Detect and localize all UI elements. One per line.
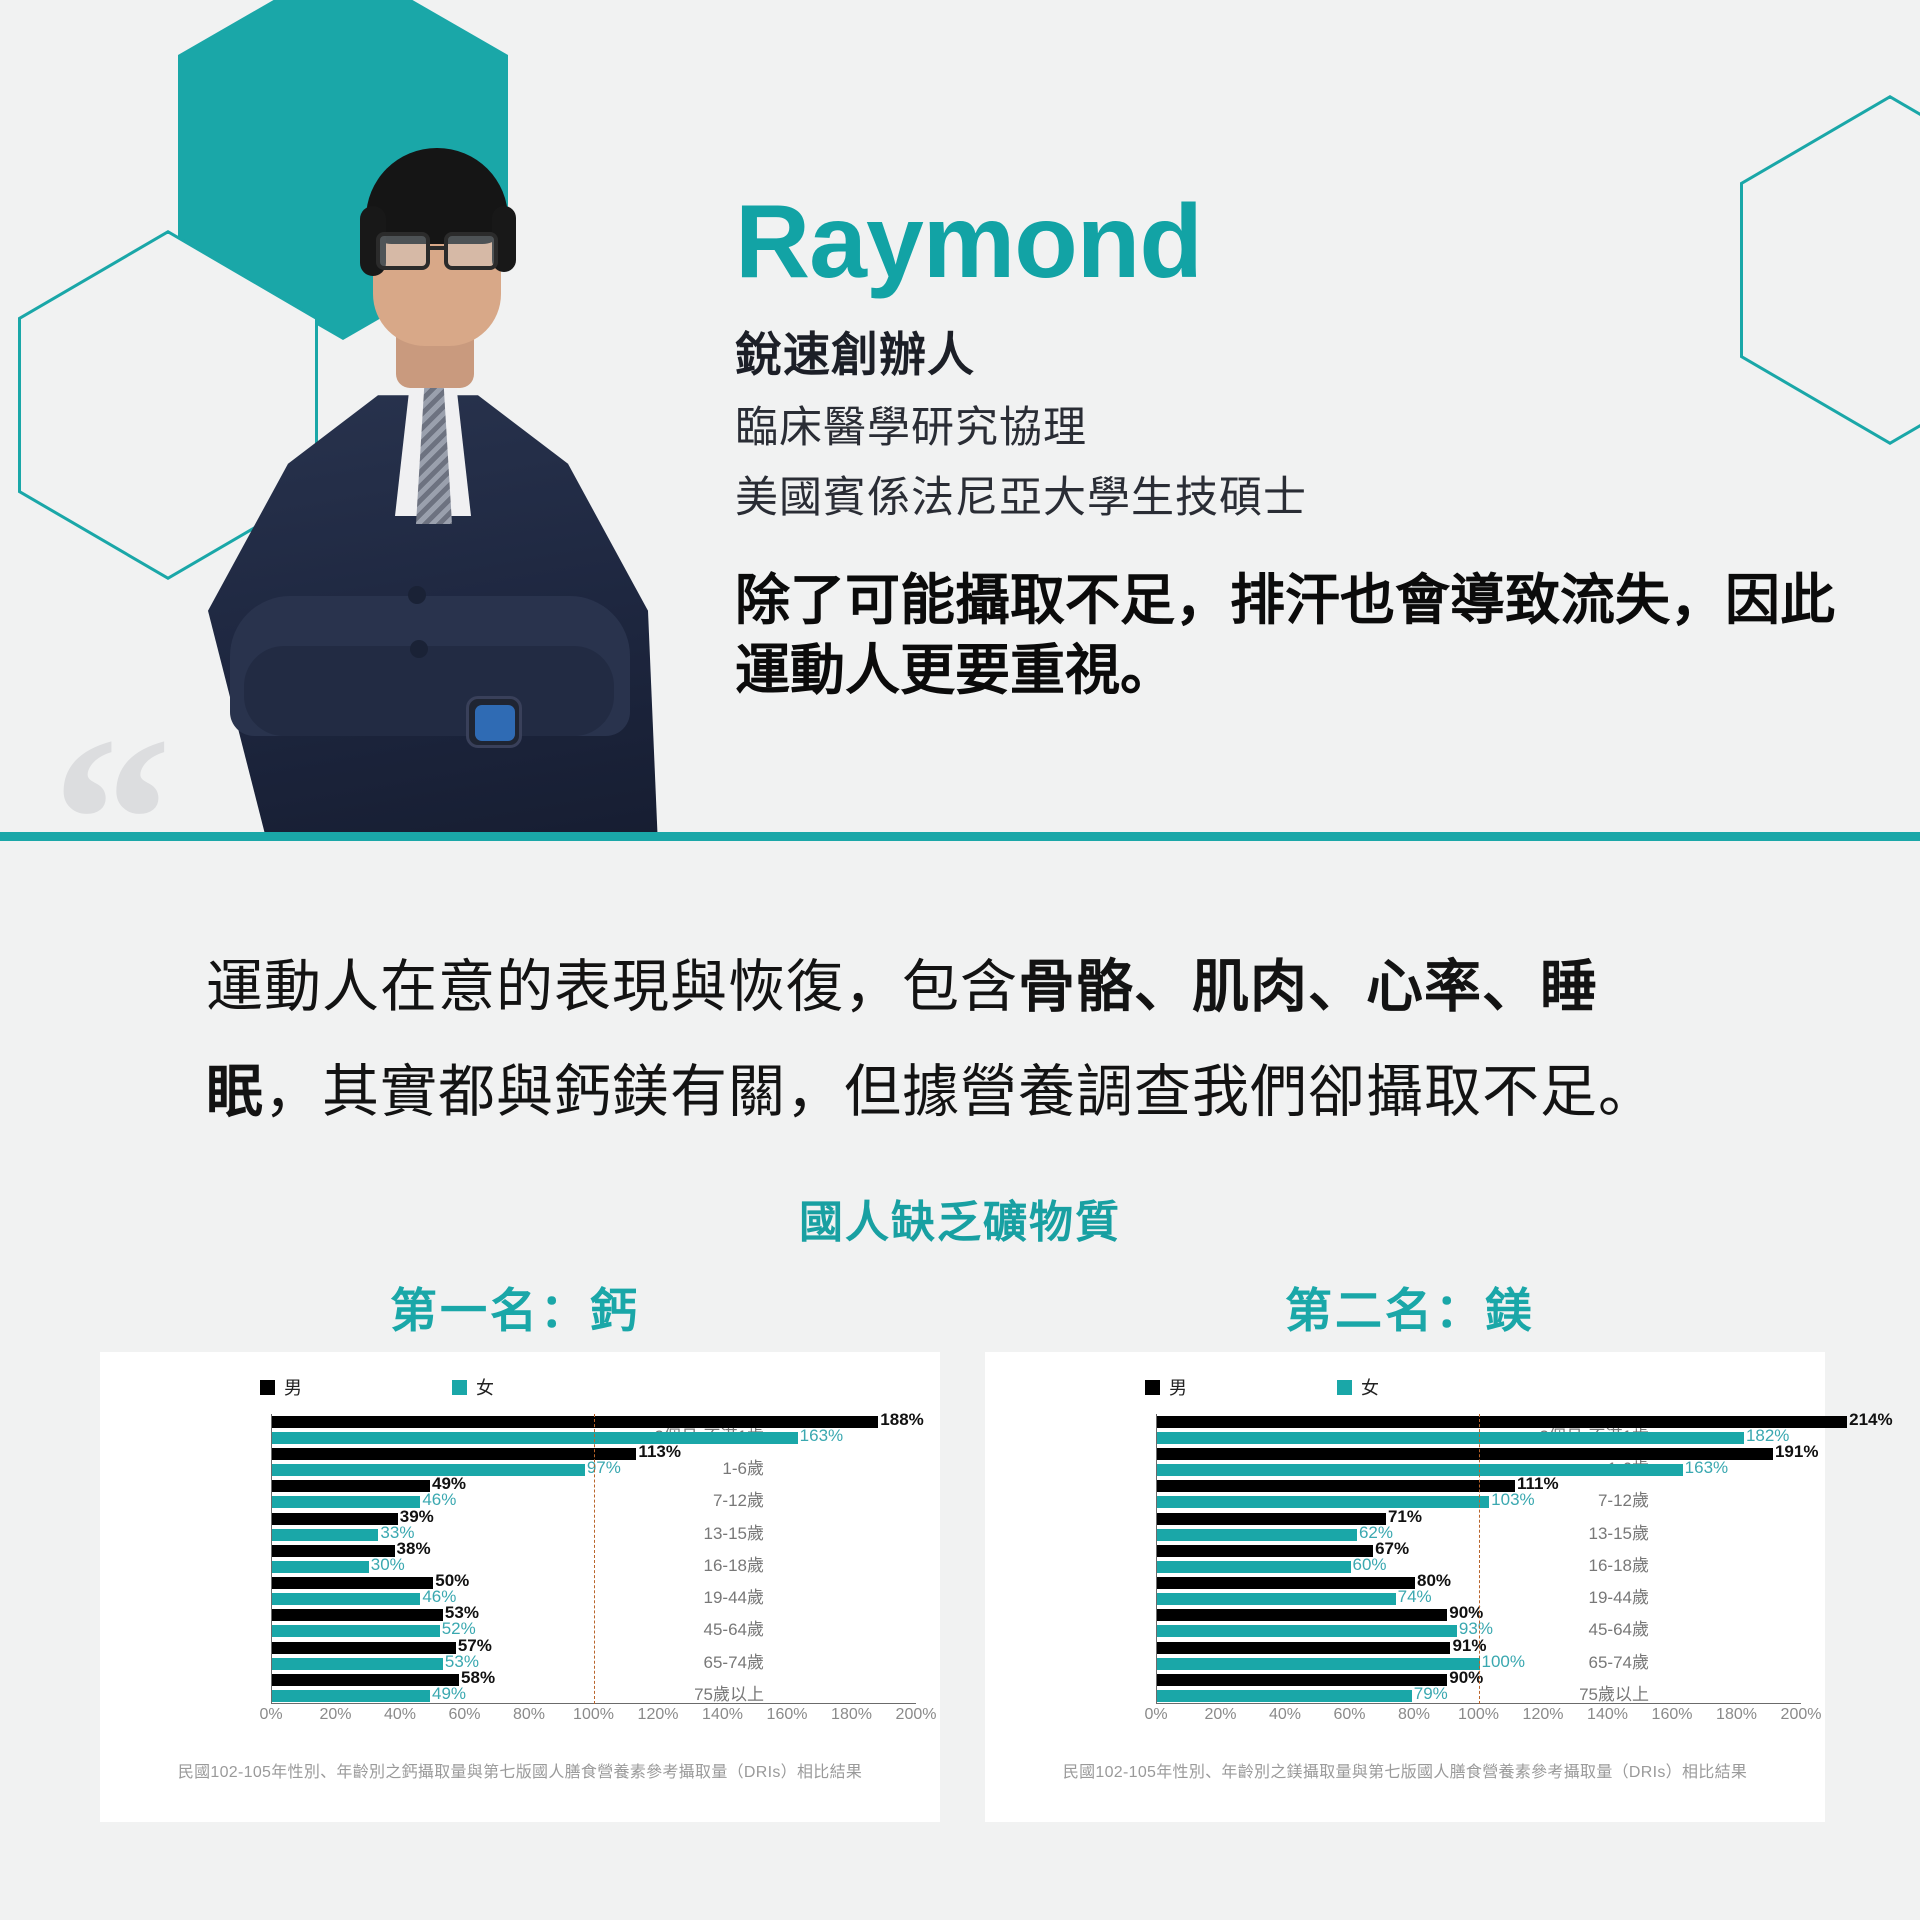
x-tick-label: 120% (1523, 1706, 1564, 1724)
bar-male (272, 1609, 443, 1621)
bar-female (1157, 1658, 1480, 1670)
bar-value-label: 33% (380, 1527, 414, 1539)
x-tick-label: 60% (448, 1706, 480, 1724)
bar-value-label: 100% (1482, 1656, 1525, 1668)
bar-value-label: 80% (1417, 1575, 1451, 1587)
chart-legend: 男女 (1145, 1374, 1379, 1400)
x-axis-ticks: 0%20%40%60%80%100%120%140%160%180%200% (271, 1706, 916, 1726)
quote-line-2: 眠，其實都與鈣鎂有關，但據營養調查我們卻攝取不足。 (206, 1040, 1806, 1145)
quotation-mark-icon: “ (52, 700, 172, 940)
bar-male (1157, 1674, 1447, 1686)
bar-value-label: 74% (1398, 1591, 1432, 1603)
legend-item-female: 女 (452, 1374, 494, 1400)
bar-male (272, 1577, 433, 1589)
bar-value-label: 53% (445, 1656, 479, 1668)
bar-male (272, 1448, 636, 1460)
bar-value-label: 163% (1685, 1462, 1728, 1474)
legend-label: 女 (476, 1374, 494, 1400)
x-tick-label: 140% (1587, 1706, 1628, 1724)
quote-line-2-bold: 眠 (206, 1060, 264, 1124)
bar-female (1157, 1625, 1457, 1637)
legend-swatch-icon (1145, 1380, 1160, 1395)
bar-female (1157, 1496, 1489, 1508)
bar-male (1157, 1545, 1373, 1557)
bar-value-label: 97% (587, 1462, 621, 1474)
bar-male (1157, 1642, 1450, 1654)
x-tick-label: 20% (1204, 1706, 1236, 1724)
bar-female (272, 1464, 585, 1476)
legend-label: 女 (1361, 1374, 1379, 1400)
bar-value-label: 103% (1491, 1494, 1534, 1506)
header-band: Raymond 銳速創辦人 臨床醫學研究協理 美國賓係法尼亞大學生技碩士 除了可… (0, 0, 1920, 838)
bar-male (1157, 1448, 1773, 1460)
bar-value-label: 71% (1388, 1511, 1422, 1523)
quote-line-2-normal: ，其實都與鈣鎂有關，但據營養調查我們卻攝取不足。 (264, 1060, 1656, 1124)
x-tick-label: 180% (1716, 1706, 1757, 1724)
bar-female (1157, 1464, 1683, 1476)
bar-female (272, 1432, 798, 1444)
bar-female (272, 1690, 430, 1702)
reference-line-100 (1479, 1414, 1480, 1704)
legend-swatch-icon (1337, 1380, 1352, 1395)
bar-male (1157, 1609, 1447, 1621)
bar-male (1157, 1577, 1415, 1589)
chart-caption: 民國102-105年性別、年齡別之鎂攝取量與第七版國人膳食營養素參考攝取量（DR… (985, 1758, 1825, 1782)
bar-value-label: 214% (1849, 1414, 1892, 1426)
x-tick-label: 140% (702, 1706, 743, 1724)
x-tick-label: 20% (319, 1706, 351, 1724)
x-tick-label: 100% (573, 1706, 614, 1724)
bar-female (1157, 1690, 1412, 1702)
bar-value-label: 38% (397, 1543, 431, 1555)
bar-male (1157, 1513, 1386, 1525)
bar-male (272, 1674, 459, 1686)
bar-value-label: 49% (432, 1688, 466, 1700)
x-tick-label: 0% (259, 1706, 282, 1724)
bar-value-label: 67% (1375, 1543, 1409, 1555)
legend-label: 男 (284, 1374, 302, 1400)
bar-value-label: 53% (445, 1607, 479, 1619)
bar-female (1157, 1432, 1744, 1444)
bar-male (272, 1513, 398, 1525)
profile-credential-1: 臨床醫學研究協理 (735, 393, 1835, 455)
bar-value-label: 60% (1353, 1559, 1387, 1571)
legend-item-male: 男 (260, 1374, 302, 1400)
profile-header: Raymond 銳速創辦人 臨床醫學研究協理 美國賓係法尼亞大學生技碩士 除了可… (735, 190, 1835, 706)
bar-value-label: 163% (800, 1430, 843, 1442)
bar-female (272, 1529, 378, 1541)
bar-value-label: 52% (442, 1623, 476, 1635)
legend-item-female: 女 (1337, 1374, 1379, 1400)
bar-female (272, 1496, 420, 1508)
bar-value-label: 182% (1746, 1430, 1789, 1442)
bar-value-label: 50% (435, 1575, 469, 1587)
bar-female (272, 1625, 440, 1637)
x-tick-label: 100% (1458, 1706, 1499, 1724)
bar-value-label: 46% (422, 1494, 456, 1506)
teal-divider (0, 832, 1920, 841)
bar-value-label: 46% (422, 1591, 456, 1603)
chart-card-calcium: 男女2個月-不滿1歲1-6歲7-12歲13-15歲16-18歲19-44歲45-… (100, 1352, 940, 1822)
bar-value-label: 79% (1414, 1688, 1448, 1700)
quote-line-1-bold: 骨骼、肌肉、心率、睡 (1018, 955, 1598, 1019)
bar-female (272, 1593, 420, 1605)
x-tick-label: 200% (1781, 1706, 1822, 1724)
chart-plot-area: 2個月-不滿1歲1-6歲7-12歲13-15歲16-18歲19-44歲45-64… (1011, 1414, 1801, 1734)
quote-line-1-normal: 運動人在意的表現與恢復，包含 (206, 955, 1018, 1019)
x-tick-label: 160% (767, 1706, 808, 1724)
legend-label: 男 (1169, 1374, 1187, 1400)
profile-name: Raymond (735, 190, 1835, 294)
bar-value-label: 93% (1459, 1623, 1493, 1635)
glasses-icon (376, 232, 430, 270)
legend-item-male: 男 (1145, 1374, 1187, 1400)
bar-male (1157, 1416, 1847, 1428)
chart-plot-area: 2個月-不滿1歲1-6歲7-12歲13-15歲16-18歲19-44歲45-64… (126, 1414, 916, 1734)
bar-value-label: 62% (1359, 1527, 1393, 1539)
quote-line-1: 運動人在意的表現與恢復，包含骨骼、肌肉、心率、睡 (206, 935, 1806, 1040)
legend-swatch-icon (452, 1380, 467, 1395)
poster-root: Raymond 銳速創辦人 臨床醫學研究協理 美國賓係法尼亞大學生技碩士 除了可… (0, 0, 1920, 1920)
bar-value-label: 58% (461, 1672, 495, 1684)
bar-value-label: 30% (371, 1559, 405, 1571)
x-tick-label: 180% (831, 1706, 872, 1724)
bar-male (272, 1480, 430, 1492)
profile-credential-2: 美國賓係法尼亞大學生技碩士 (735, 463, 1835, 525)
x-tick-label: 200% (896, 1706, 937, 1724)
chart-caption: 民國102-105年性別、年齡別之鈣攝取量與第七版國人膳食營養素參考攝取量（DR… (100, 1758, 940, 1782)
x-tick-label: 160% (1652, 1706, 1693, 1724)
bar-female (1157, 1593, 1396, 1605)
bar-male (272, 1416, 878, 1428)
chart-2-title: 第二名：鎂 (975, 1272, 1845, 1341)
bar-value-label: 111% (1517, 1478, 1559, 1490)
bar-value-label: 91% (1452, 1640, 1486, 1652)
bar-male (272, 1642, 456, 1654)
profile-headline: 除了可能攝取不足，排汗也會導致流失，因此運動人更要重視。 (735, 565, 1835, 706)
quote-block: 運動人在意的表現與恢復，包含骨骼、肌肉、心率、睡 眠，其實都與鈣鎂有關，但據營養… (206, 935, 1806, 1146)
x-tick-label: 60% (1333, 1706, 1365, 1724)
section-title: 國人缺乏礦物質 (0, 1186, 1920, 1250)
x-tick-label: 80% (513, 1706, 545, 1724)
bar-female (1157, 1561, 1351, 1573)
x-axis-ticks: 0%20%40%60%80%100%120%140%160%180%200% (1156, 1706, 1801, 1726)
bar-female (272, 1658, 443, 1670)
x-tick-label: 40% (1269, 1706, 1301, 1724)
bar-female (1157, 1529, 1357, 1541)
x-tick-label: 0% (1144, 1706, 1167, 1724)
profile-role: 銳速創辦人 (735, 316, 1835, 385)
x-tick-label: 40% (384, 1706, 416, 1724)
x-tick-label: 120% (638, 1706, 679, 1724)
bar-value-label: 57% (458, 1640, 492, 1652)
chart-1-title: 第一名：鈣 (80, 1272, 950, 1341)
reference-line-100 (594, 1414, 595, 1704)
portrait-photo (148, 56, 708, 836)
bar-male (1157, 1480, 1515, 1492)
bar-female (272, 1561, 369, 1573)
legend-swatch-icon (260, 1380, 275, 1395)
bar-value-label: 39% (400, 1511, 434, 1523)
bar-value-label: 49% (432, 1478, 466, 1490)
bar-value-label: 188% (880, 1414, 923, 1426)
bar-value-label: 113% (638, 1446, 681, 1458)
bar-value-label: 191% (1775, 1446, 1818, 1458)
smartwatch-icon (466, 696, 522, 748)
chart-card-magnesium: 男女2個月-不滿1歲1-6歲7-12歲13-15歲16-18歲19-44歲45-… (985, 1352, 1825, 1822)
chart-legend: 男女 (260, 1374, 494, 1400)
x-tick-label: 80% (1398, 1706, 1430, 1724)
